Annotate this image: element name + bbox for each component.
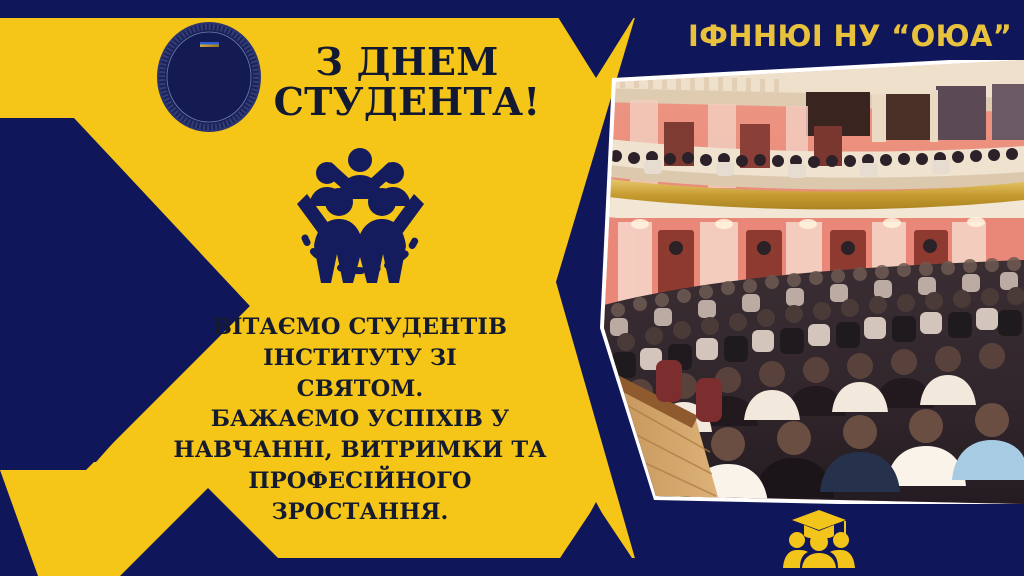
message-line: БАЖАЄМО УСПІХІВ У bbox=[150, 404, 570, 435]
auditorium-audience-photo bbox=[600, 60, 1024, 504]
photo-content bbox=[600, 60, 1024, 504]
photo-clip bbox=[600, 60, 1024, 504]
group-of-people-icon bbox=[283, 142, 438, 294]
message-line: ВІТАЄМО СТУДЕНТІВ bbox=[150, 312, 570, 343]
message-line: ІНСТИТУТУ ЗІ bbox=[150, 343, 570, 374]
greeting-title-line-2: СТУДЕНТА! bbox=[262, 82, 552, 122]
message-line: СВЯТОМ. bbox=[150, 374, 570, 405]
message-line: ПРОФЕСІЙНОГО bbox=[150, 466, 570, 497]
greeting-title-line-1: З ДНЕМ bbox=[262, 42, 552, 82]
message-block: ВІТАЄМО СТУДЕНТІВ ІНСТИТУТУ ЗІ СВЯТОМ. Б… bbox=[150, 312, 570, 528]
institution-header-label: ІФННЮІ НУ “ОЮА” bbox=[688, 19, 1018, 53]
message-line: ЗРОСТАННЯ. bbox=[150, 497, 570, 528]
message-line: НАВЧАННІ, ВИТРИМКИ ТА bbox=[150, 435, 570, 466]
graduation-group-icon bbox=[782, 508, 856, 568]
university-seal-emblem bbox=[157, 22, 261, 132]
greeting-title: З ДНЕМ СТУДЕНТА! bbox=[262, 42, 552, 121]
poster: З ДНЕМ СТУДЕНТА! bbox=[0, 0, 1024, 576]
